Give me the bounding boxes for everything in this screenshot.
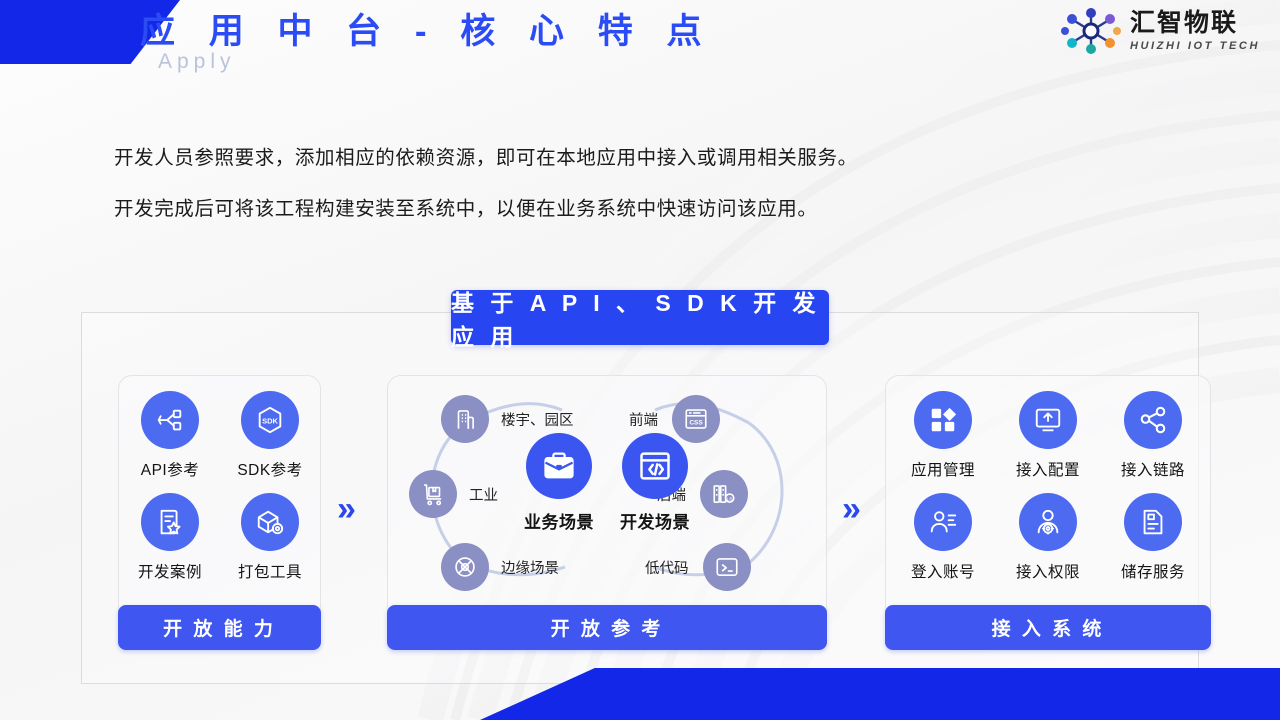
panel-left-button-label: 开 放 能 力 [163,614,276,641]
tile-label: 储存服务 [1121,560,1185,582]
page-header: 应 用 中 台 - 核 心 特 点 Apply 汇智物联 HUIZHI IOT … [0,0,1280,72]
tile-label: SDK参考 [237,458,302,480]
brand-logo: 汇智物联 HUIZHI IOT TECH [1060,8,1260,54]
tile-label: 应用管理 [911,458,975,480]
brand-name-en: HUIZHI IOT TECH [1130,41,1260,52]
box-gear-icon [241,493,299,551]
tile-storage-service[interactable]: 储存服务 [1105,493,1201,582]
tile-access-link[interactable]: 接入链路 [1105,391,1201,480]
panel-right-button-label: 接 入 系 统 [992,614,1105,641]
chevron-right-icon-2: » [842,492,861,526]
brand-text: 汇智物联 HUIZHI IOT TECH [1130,11,1260,52]
satellite-label: 边缘场景 [501,557,559,578]
intro-paragraph-1: 开发人员参照要求，添加相应的依赖资源，即可在本地应用中接入或调用相关服务。 [114,141,858,170]
chevron-right-icon-1: » [337,492,356,526]
satellite-edge[interactable]: 边缘场景 [441,543,559,591]
page-subtitle: Apply [158,50,236,74]
center-dev-scenario[interactable]: 开发场景 [607,433,703,533]
file-save-icon [1124,493,1182,551]
panel-mid-button[interactable]: 开 放 参 考 [387,605,827,650]
satellite-label: 楼宇、园区 [501,409,574,430]
tile-label: 登入账号 [911,560,975,582]
satellite-label: 前端 [629,409,658,430]
tile-label: 接入链路 [1121,458,1185,480]
sdk-cube-icon: SDK [241,391,299,449]
headline-label: 基 于 A P I 、 S D K 开 发 应 用 [451,284,829,352]
panel-open-capability: API参考 SDK SDK参考 开发案例 打包工 [118,375,321,650]
panel-mid-button-label: 开 放 参 考 [551,614,664,641]
brand-name-cn: 汇智物联 [1130,11,1260,36]
satellite-label: 低代码 [645,557,689,578]
panel-access-system: 应用管理 接入配置 接入链路 登入账号 [885,375,1211,650]
center-label: 开发场景 [620,508,690,533]
footer-accent-shape [480,668,1280,720]
svg-text:CSS: CSS [689,420,703,427]
tile-access-permission[interactable]: 接入权限 [1000,493,1096,582]
share-nodes-icon [1124,391,1182,449]
tile-dev-case[interactable]: 开发案例 [122,493,218,582]
document-star-icon [141,493,199,551]
satellite-lowcode[interactable]: 低代码 [645,543,751,591]
tile-label: 打包工具 [238,560,302,582]
tile-label: 接入权限 [1016,560,1080,582]
tile-label: API参考 [141,458,199,480]
tile-login-account[interactable]: 登入账号 [895,493,991,582]
intro-paragraph-2: 开发完成后可将该工程构建安装至系统中，以便在业务系统中快速访问该应用。 [114,192,818,221]
satellite-label: 工业 [469,484,498,505]
tile-packaging-tool[interactable]: 打包工具 [222,493,318,582]
user-list-icon [914,493,972,551]
center-label: 业务场景 [524,508,594,533]
molecule-network-icon [1060,8,1122,54]
server-db-icon: LB [700,470,748,518]
user-gear-icon [1019,493,1077,551]
panel-open-reference: 楼宇、园区 工业 边缘场景 前端 CSS [387,375,827,650]
tile-label: 接入配置 [1016,458,1080,480]
cart-box-icon [409,470,457,518]
api-branch-icon [141,391,199,449]
building-icon [441,395,489,443]
center-business-scenario[interactable]: 业务场景 [511,433,607,533]
briefcase-icon [526,433,592,499]
tile-api-reference[interactable]: API参考 [122,391,218,480]
grid-blocks-icon [914,391,972,449]
panel-left-button[interactable]: 开 放 能 力 [118,605,321,650]
tile-sdk-reference[interactable]: SDK SDK参考 [222,391,318,480]
tile-access-config[interactable]: 接入配置 [1000,391,1096,480]
monitor-upload-icon [1019,391,1077,449]
panel-right-button[interactable]: 接 入 系 统 [885,605,1211,650]
tile-label: 开发案例 [138,560,202,582]
tile-app-management[interactable]: 应用管理 [895,391,991,480]
code-window-icon [622,433,688,499]
satellite-industry[interactable]: 工业 [409,470,498,518]
svg-text:SDK: SDK [262,416,278,425]
edge-node-icon [441,543,489,591]
terminal-icon [703,543,751,591]
svg-text:LB: LB [727,497,733,503]
headline-banner: 基 于 A P I 、 S D K 开 发 应 用 [451,290,829,345]
page-title: 应 用 中 台 - 核 心 特 点 [140,8,713,56]
